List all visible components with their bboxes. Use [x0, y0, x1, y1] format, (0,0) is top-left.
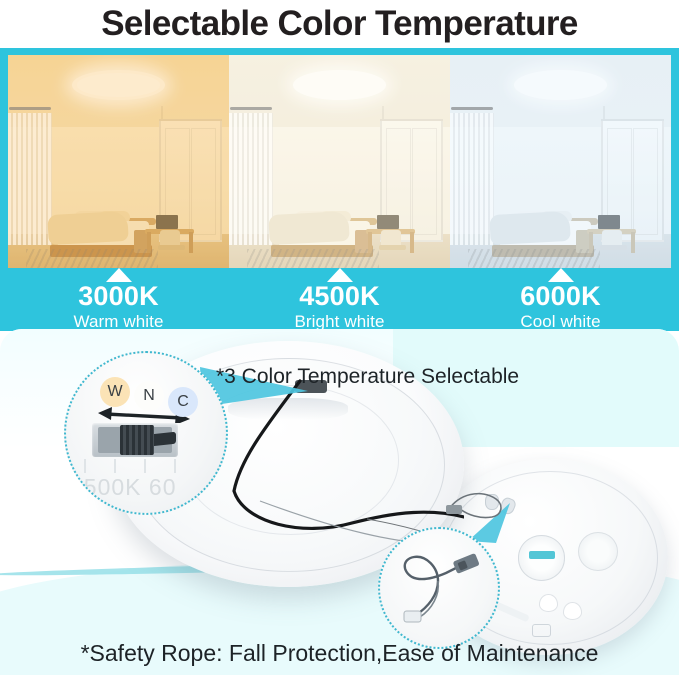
room-panel-row [8, 55, 671, 268]
callout-text: *3 Color Temperature Selectable [216, 365, 519, 389]
switch-position-w: W [100, 377, 130, 407]
kelvin-value: 6000K [520, 283, 601, 310]
label-block-3000k: 3000K Warm white [8, 268, 229, 328]
product-infographic: Selectable Color Temperature [0, 0, 679, 675]
plate-tab [532, 624, 551, 638]
switch-knob-tail [152, 432, 176, 447]
window [8, 113, 52, 245]
switch-position-c: C [168, 387, 198, 417]
product-detail-section: 4500K 60 W N C [0, 329, 679, 675]
pointer-triangle-icon [106, 268, 132, 282]
engraved-kelvin-text: 4500K 60 [70, 474, 176, 501]
room-panel-6000k [450, 55, 671, 268]
pointer-triangle-icon [548, 268, 574, 282]
kelvin-value: 4500K [299, 283, 380, 310]
switch-position-n: N [134, 381, 164, 411]
window [450, 113, 494, 245]
label-block-4500k: 4500K Bright white [229, 268, 450, 328]
secondary-hole [578, 532, 618, 571]
heart-cutout [563, 602, 582, 620]
switch-letter: C [177, 393, 189, 411]
color-temperature-labels: 3000K Warm white 4500K Bright white 6000… [8, 268, 671, 328]
title-bar: Selectable Color Temperature [0, 0, 679, 48]
safety-rope-magnifier [378, 527, 500, 649]
color-temperature-hero: 3000K Warm white 4500K Bright white 6000… [0, 48, 679, 331]
switch-magnifier: 4500K 60 W N C [64, 351, 228, 515]
label-block-6000k: 6000K Cool white [450, 268, 671, 328]
pointer-triangle-icon [327, 268, 353, 282]
switch-letter: W [107, 383, 122, 401]
page-title: Selectable Color Temperature [101, 4, 578, 44]
bottom-caption: *Safety Rope: Fall Protection,Ease of Ma… [0, 640, 679, 667]
room-panel-3000k [8, 55, 229, 268]
kelvin-value: 3000K [78, 283, 159, 310]
safety-rope-clip-icon [380, 529, 498, 647]
switch-letter: N [143, 387, 155, 405]
window [229, 113, 273, 245]
switch-knob[interactable] [120, 425, 154, 455]
room-panel-4500k [229, 55, 450, 268]
